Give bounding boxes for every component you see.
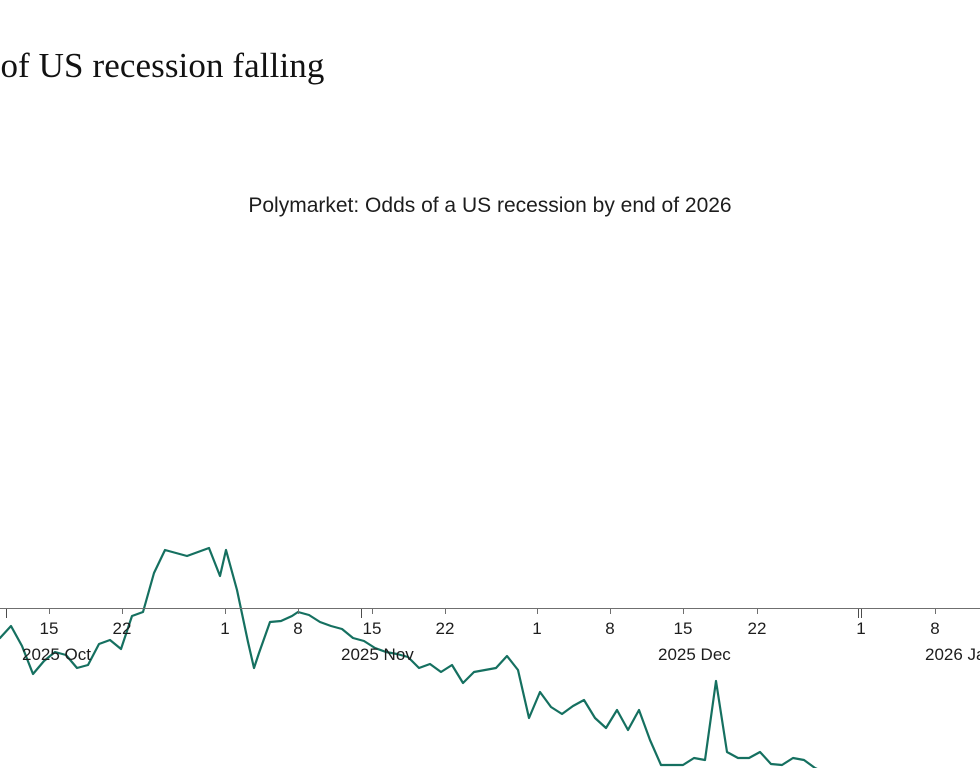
x-axis-tick xyxy=(49,609,50,614)
x-axis-tick xyxy=(122,609,123,614)
x-axis-month-tick xyxy=(861,609,862,618)
x-axis-tick xyxy=(935,609,936,614)
x-axis-month-label: 2025 Oct xyxy=(22,645,91,665)
x-axis-month-tick xyxy=(858,609,859,618)
x-axis-day-label: 22 xyxy=(113,619,132,639)
x-axis-month-label: 2025 Dec xyxy=(658,645,731,665)
x-axis-tick xyxy=(445,609,446,614)
x-axis-day-label: 8 xyxy=(930,619,939,639)
headline: y of US recession falling xyxy=(0,44,980,88)
x-axis-month-tick xyxy=(361,609,362,618)
x-axis-day-label: 22 xyxy=(748,619,767,639)
x-axis-day-label: 1 xyxy=(532,619,541,639)
line-chart-svg xyxy=(0,240,980,610)
x-axis-month-tick xyxy=(6,609,7,618)
plot-area xyxy=(0,240,980,610)
x-axis-tick xyxy=(225,609,226,614)
x-axis-day-label: 22 xyxy=(436,619,455,639)
x-axis-day-label: 1 xyxy=(220,619,229,639)
x-axis-tick xyxy=(298,609,299,614)
x-axis-line xyxy=(0,608,980,609)
x-axis-tick xyxy=(372,609,373,614)
x-axis-day-label: 15 xyxy=(363,619,382,639)
chart-subtitle: Polymarket: Odds of a US recession by en… xyxy=(0,194,980,218)
x-axis-day-label: 15 xyxy=(674,619,693,639)
x-axis-tick xyxy=(537,609,538,614)
chart-canvas: y of US recession falling Polymarket: Od… xyxy=(0,0,980,768)
x-axis-day-label: 15 xyxy=(40,619,59,639)
x-axis-day-label: 8 xyxy=(605,619,614,639)
x-axis-tick xyxy=(610,609,611,614)
x-axis: 152218152218152218 2025 Oct2025 Nov2025 … xyxy=(0,600,980,690)
x-axis-tick xyxy=(757,609,758,614)
x-axis-month-label: 2025 Nov xyxy=(341,645,414,665)
x-axis-tick xyxy=(683,609,684,614)
x-axis-day-label: 1 xyxy=(856,619,865,639)
x-axis-day-label: 8 xyxy=(293,619,302,639)
x-axis-month-label: 2026 Jan xyxy=(925,645,980,665)
